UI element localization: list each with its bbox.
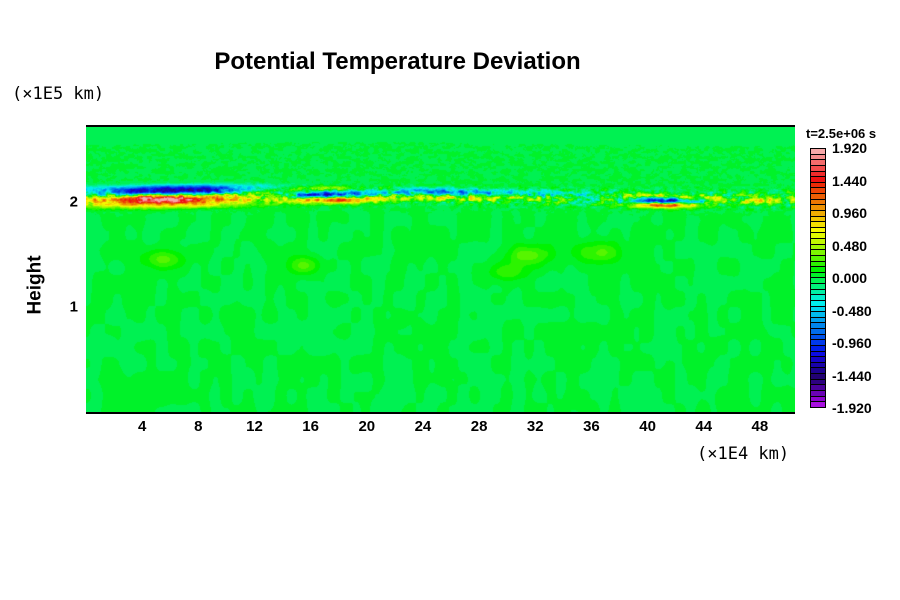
colorbar [810,148,826,408]
colorbar-time-label: t=2.5e+06 s [806,126,876,141]
x-tick-label: 8 [194,418,202,435]
x-tick-label: 24 [415,418,432,435]
x-tick-label: 40 [639,418,656,435]
colorbar-band [811,401,825,407]
x-tick-label: 12 [246,418,263,435]
colorbar-tick-label: -0.480 [832,303,872,319]
x-tick-label: 32 [527,418,544,435]
y-tick-label: 2 [70,194,78,211]
colorbar-tick-label: -0.960 [832,335,872,351]
heatmap-canvas [86,127,795,412]
colorbar-tick-label: -1.440 [832,368,872,384]
plot-area [86,127,795,412]
x-tick-label: 44 [695,418,712,435]
x-tick-label: 16 [302,418,319,435]
colorbar-tick-label: 0.480 [832,238,867,254]
x-tick-label: 48 [752,418,769,435]
figure-canvas: Potential Temperature Deviation (×1E5 km… [0,0,900,600]
y-axis-unit-label: (×1E5 km) [12,84,104,104]
colorbar-tick-label: -1.920 [832,400,872,416]
axis-line-bottom [86,412,795,414]
x-tick-label: 4 [138,418,146,435]
heatmap-field [86,127,795,412]
y-axis-title-text: Height [25,255,47,314]
y-tick-label: 1 [70,299,78,316]
colorbar-tick-label: 0.000 [832,270,867,286]
x-tick-label: 36 [583,418,600,435]
y-axis-title: Height [22,230,50,340]
colorbar-tick-label: 0.960 [832,205,867,221]
x-axis-unit-label: (×1E4 km) [697,444,789,464]
colorbar-tick-label: 1.920 [832,140,867,156]
colorbar-tick-label: 1.440 [832,173,867,189]
page-title: Potential Temperature Deviation [0,48,795,76]
x-tick-label: 20 [358,418,375,435]
x-tick-label: 28 [471,418,488,435]
